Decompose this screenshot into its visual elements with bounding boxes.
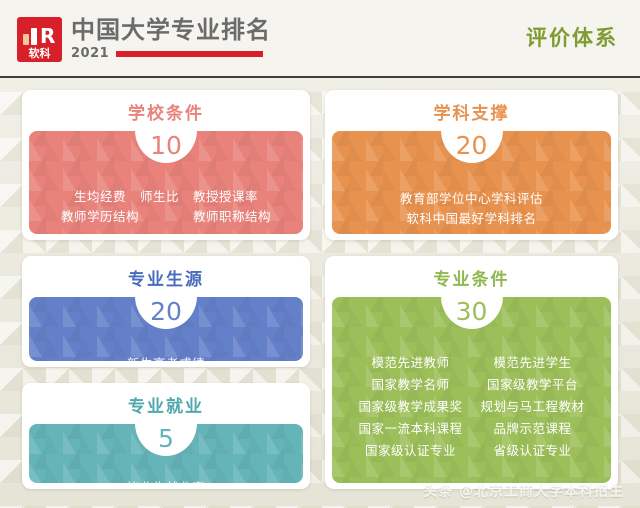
indicator-item: 规划与马工程教材 <box>472 396 594 418</box>
indicator-item: 模范先进教师 <box>350 352 472 374</box>
indicator-item: 软科中国最好学科排名 <box>399 209 543 229</box>
card-title-employment: 专业就业 <box>22 397 310 417</box>
indicator-row: 国家级教学成果奖 规划与马工程教材 <box>332 396 611 418</box>
indicator-row: 国家一流本科课程 品牌示范课程 <box>332 418 611 440</box>
indicator-item: 毕业生就业率 <box>120 478 212 483</box>
logo-bar-tall-icon <box>31 28 37 45</box>
card-school-conditions[interactable]: 学校条件 生均经费 师生比 教授授课率 教师学历结构 教师职称结构 10 <box>22 90 310 240</box>
indicator-list-school: 生均经费 师生比 教授授课率 教师学历结构 教师职称结构 <box>29 187 303 227</box>
indicator-item: 教师职称结构 <box>166 207 298 227</box>
page-header: R 软科 中国大学专业排名 2021 评价体系 <box>0 0 640 78</box>
indicator-row: 国家教学名师 国家级教学平台 <box>332 374 611 396</box>
logo-bar-short-icon <box>23 34 29 45</box>
indicator-list-discipline: 教育部学位中心学科评估 软科中国最好学科排名 <box>332 189 611 229</box>
card-title-major: 专业条件 <box>325 270 618 290</box>
indicator-item: 国家一流本科课程 <box>350 418 472 440</box>
card-score-source: 20 <box>150 298 182 326</box>
indicator-row: 模范先进教师 模范先进学生 <box>332 352 611 374</box>
year-accent-bar <box>116 51 263 57</box>
indicator-row: 教师学历结构 教师职称结构 <box>29 207 303 227</box>
card-score-major: 30 <box>456 298 488 326</box>
watermark: 头条 @北京工商大学本科招生 <box>423 483 624 501</box>
indicator-item: 国家级教学成果奖 <box>350 396 472 418</box>
indicator-row: 软科中国最好学科排名 <box>332 209 611 229</box>
card-score-employment: 5 <box>158 425 174 453</box>
indicator-item: 师生比 <box>133 187 186 207</box>
indicator-item: 教授授课率 <box>186 187 265 207</box>
indicator-item: 生均经费 <box>67 187 133 207</box>
indicator-row: 国家级认证专业 省级认证专业 <box>332 440 611 462</box>
card-major-conditions[interactable]: 专业条件 模范先进教师 模范先进学生 国家教学名师 国家级教学平台 国家级教学成… <box>325 256 618 489</box>
indicator-item: 国家教学名师 <box>350 374 472 396</box>
card-title-discipline: 学科支撑 <box>325 104 618 124</box>
indicator-row: 教育部学位中心学科评估 <box>332 189 611 209</box>
indicator-row: 生均经费 师生比 教授授课率 <box>29 187 303 207</box>
card-title-school: 学校条件 <box>22 104 310 124</box>
indicator-item: 国家级认证专业 <box>350 440 472 462</box>
title-wrap: 中国大学专业排名 2021 <box>71 17 271 61</box>
subtitle-row: 2021 <box>71 47 271 61</box>
section-label: 评价体系 <box>526 26 618 50</box>
indicator-item: 国家级教学平台 <box>472 374 594 396</box>
indicator-list-major: 模范先进教师 模范先进学生 国家教学名师 国家级教学平台 国家级教学成果奖 规划… <box>332 352 611 462</box>
card-discipline-support[interactable]: 学科支撑 教育部学位中心学科评估 软科中国最好学科排名 20 <box>325 90 618 240</box>
page-title: 中国大学专业排名 <box>71 17 271 44</box>
card-major-student-source[interactable]: 专业生源 新生高考成绩 20 <box>22 256 310 367</box>
year-label: 2021 <box>71 47 109 61</box>
indicator-row: 新生高考成绩 <box>29 354 303 361</box>
card-score-discipline: 20 <box>456 132 488 160</box>
card-title-source: 专业生源 <box>22 270 310 290</box>
evaluation-system-page: R 软科 中国大学专业排名 2021 评价体系 学校条件 生均经费 师生比 <box>0 0 640 508</box>
indicator-item: 教师学历结构 <box>34 207 166 227</box>
indicator-item: 品牌示范课程 <box>472 418 594 440</box>
indicator-item: 新生高考成绩 <box>120 354 212 361</box>
logo-brand-text: 软科 <box>20 48 59 60</box>
indicator-item: 省级认证专业 <box>472 440 594 462</box>
indicator-item: 模范先进学生 <box>472 352 594 374</box>
indicator-list-source: 新生高考成绩 <box>29 354 303 361</box>
shanghairanking-logo-icon: R 软科 <box>17 17 62 62</box>
card-major-employment[interactable]: 专业就业 毕业生就业率 5 <box>22 383 310 489</box>
brand-logo-block: R 软科 中国大学专业排名 2021 <box>17 17 271 62</box>
indicator-row: 毕业生就业率 <box>29 478 303 483</box>
card-score-school: 10 <box>150 132 182 160</box>
logo-letter: R <box>40 26 54 46</box>
indicator-list-employment: 毕业生就业率 <box>29 478 303 483</box>
indicator-item: 教育部学位中心学科评估 <box>393 189 550 209</box>
